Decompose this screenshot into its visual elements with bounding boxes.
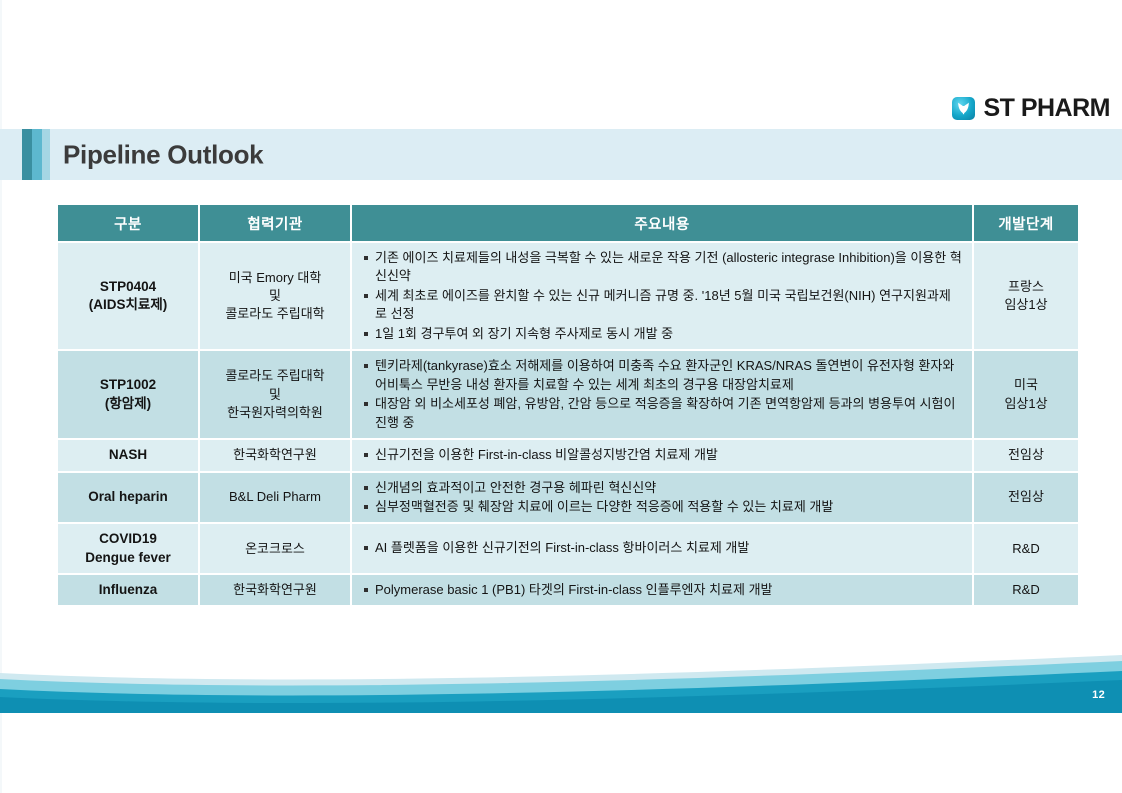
detail-list: 신개념의 효과적이고 안전한 경구용 헤파린 혁신신약 심부정맥혈전증 및 췌장… bbox=[362, 479, 962, 517]
cell-partner: 온코크로스 bbox=[200, 524, 350, 572]
cell-details: 텐키라제(tankyrase)효소 저해제를 이용하여 미충족 수요 환자군인 … bbox=[352, 351, 972, 438]
detail-list: 기존 에이즈 치료제들의 내성을 극복할 수 있는 새로운 작용 기전 (all… bbox=[362, 249, 962, 343]
stage-line-1: 미국 bbox=[974, 376, 1078, 394]
cell-category: Influenza bbox=[58, 575, 198, 605]
cell-stage: 전임상 bbox=[974, 440, 1078, 470]
cell-details: 신규기전을 이용한 First-in-class 비알콜성지방간염 치료제 개발 bbox=[352, 440, 972, 470]
cell-category: STP0404 (AIDS치료제) bbox=[58, 243, 198, 349]
cell-partner: 한국화학연구원 bbox=[200, 575, 350, 605]
cell-partner: B&L Deli Pharm bbox=[200, 473, 350, 523]
stage-line-1: 전임상 bbox=[974, 488, 1078, 506]
table-row: Influenza 한국화학연구원 Polymerase basic 1 (PB… bbox=[58, 575, 1078, 605]
stage-line-1: 전임상 bbox=[974, 446, 1078, 464]
partner-line-2: 및 bbox=[200, 386, 350, 404]
cell-stage: 미국 임상1상 bbox=[974, 351, 1078, 438]
category-line-1: COVID19 bbox=[58, 530, 198, 548]
stage-line-1: R&D bbox=[974, 540, 1078, 558]
cell-stage: 프랑스 임상1상 bbox=[974, 243, 1078, 349]
table-row: NASH 한국화학연구원 신규기전을 이용한 First-in-class 비알… bbox=[58, 440, 1078, 470]
accent-bar-mid bbox=[32, 129, 42, 180]
cell-stage: 전임상 bbox=[974, 473, 1078, 523]
slide-title-band: Pipeline Outlook bbox=[0, 129, 1122, 180]
list-item: 대장암 외 비소세포성 폐암, 유방암, 간암 등으로 적응증을 확장하여 기존… bbox=[362, 395, 962, 432]
table-row: STP0404 (AIDS치료제) 미국 Emory 대학 및 콜로라도 주립대… bbox=[58, 243, 1078, 349]
footer-wave bbox=[0, 653, 1122, 713]
category-line-1: STP0404 bbox=[58, 278, 198, 296]
cell-details: Polymerase basic 1 (PB1) 타겟의 First-in-cl… bbox=[352, 575, 972, 605]
cell-category: NASH bbox=[58, 440, 198, 470]
table-header: 구분 협력기관 주요내용 개발단계 bbox=[58, 205, 1078, 241]
brand-logo: ST PHARM bbox=[952, 96, 1110, 121]
column-header-details: 주요내용 bbox=[352, 205, 972, 241]
partner-line-1: 한국화학연구원 bbox=[200, 446, 350, 464]
partner-line-1: 온코크로스 bbox=[200, 540, 350, 558]
list-item: 텐키라제(tankyrase)효소 저해제를 이용하여 미충족 수요 환자군인 … bbox=[362, 357, 962, 394]
detail-list: 신규기전을 이용한 First-in-class 비알콜성지방간염 치료제 개발 bbox=[362, 446, 962, 464]
list-item: 심부정맥혈전증 및 췌장암 치료에 이르는 다양한 적응증에 적용할 수 있는 … bbox=[362, 498, 962, 516]
title-accent-bars bbox=[22, 129, 50, 180]
detail-list: AI 플렛폼을 이용한 신규기전의 First-in-class 항바이러스 치… bbox=[362, 539, 962, 557]
page-title: Pipeline Outlook bbox=[63, 139, 263, 170]
cell-stage: R&D bbox=[974, 524, 1078, 572]
partner-line-2: 및 bbox=[200, 287, 350, 305]
stage-line-2: 임상1상 bbox=[974, 395, 1078, 413]
category-line-2: Dengue fever bbox=[58, 549, 198, 567]
brand-name: ST PHARM bbox=[983, 96, 1110, 121]
list-item: 1일 1회 경구투여 외 장기 지속형 주사제로 동시 개발 중 bbox=[362, 325, 962, 343]
list-item: Polymerase basic 1 (PB1) 타겟의 First-in-cl… bbox=[362, 581, 962, 599]
st-pharm-mark-icon bbox=[952, 97, 975, 120]
cell-partner: 콜로라도 주립대학 및 한국원자력의학원 bbox=[200, 351, 350, 438]
pipeline-table: 구분 협력기관 주요내용 개발단계 STP0404 (AIDS치료제) 미국 E… bbox=[56, 203, 1080, 607]
partner-line-1: B&L Deli Pharm bbox=[200, 488, 350, 506]
detail-list: Polymerase basic 1 (PB1) 타겟의 First-in-cl… bbox=[362, 581, 962, 599]
detail-list: 텐키라제(tankyrase)효소 저해제를 이용하여 미충족 수요 환자군인 … bbox=[362, 357, 962, 432]
cell-details: 신개념의 효과적이고 안전한 경구용 헤파린 혁신신약 심부정맥혈전증 및 췌장… bbox=[352, 473, 972, 523]
stage-line-1: 프랑스 bbox=[974, 278, 1078, 296]
table-header-row: 구분 협력기관 주요내용 개발단계 bbox=[58, 205, 1078, 241]
table-row: STP1002 (항암제) 콜로라도 주립대학 및 한국원자력의학원 텐키라제(… bbox=[58, 351, 1078, 438]
accent-bar-dark bbox=[22, 129, 32, 180]
partner-line-1: 한국화학연구원 bbox=[200, 581, 350, 599]
stage-line-1: R&D bbox=[974, 581, 1078, 599]
slide: ST PHARM Pipeline Outlook 구분 협력기관 주요내용 개… bbox=[0, 0, 1122, 793]
table-row: COVID19 Dengue fever 온코크로스 AI 플렛폼을 이용한 신… bbox=[58, 524, 1078, 572]
partner-line-1: 콜로라도 주립대학 bbox=[200, 367, 350, 385]
cell-details: 기존 에이즈 치료제들의 내성을 극복할 수 있는 새로운 작용 기전 (all… bbox=[352, 243, 972, 349]
list-item: AI 플렛폼을 이용한 신규기전의 First-in-class 항바이러스 치… bbox=[362, 539, 962, 557]
cell-partner: 한국화학연구원 bbox=[200, 440, 350, 470]
partner-line-3: 한국원자력의학원 bbox=[200, 404, 350, 422]
cell-category: COVID19 Dengue fever bbox=[58, 524, 198, 572]
cell-stage: R&D bbox=[974, 575, 1078, 605]
accent-bar-light bbox=[42, 129, 50, 180]
cell-category: STP1002 (항암제) bbox=[58, 351, 198, 438]
category-line-1: Influenza bbox=[58, 581, 198, 599]
table-body: STP0404 (AIDS치료제) 미국 Emory 대학 및 콜로라도 주립대… bbox=[58, 243, 1078, 605]
category-line-1: NASH bbox=[58, 446, 198, 464]
cell-partner: 미국 Emory 대학 및 콜로라도 주립대학 bbox=[200, 243, 350, 349]
category-line-2: (항암제) bbox=[58, 395, 198, 413]
list-item: 세계 최초로 에이즈를 완치할 수 있는 신규 메커니즘 규명 중. '18년 … bbox=[362, 287, 962, 324]
stage-line-2: 임상1상 bbox=[974, 296, 1078, 314]
category-line-2: (AIDS치료제) bbox=[58, 296, 198, 314]
list-item: 신개념의 효과적이고 안전한 경구용 헤파린 혁신신약 bbox=[362, 479, 962, 497]
partner-line-3: 콜로라도 주립대학 bbox=[200, 305, 350, 323]
column-header-partner: 협력기관 bbox=[200, 205, 350, 241]
column-header-category: 구분 bbox=[58, 205, 198, 241]
cell-category: Oral heparin bbox=[58, 473, 198, 523]
column-header-stage: 개발단계 bbox=[974, 205, 1078, 241]
list-item: 신규기전을 이용한 First-in-class 비알콜성지방간염 치료제 개발 bbox=[362, 446, 962, 464]
page-number: 12 bbox=[1092, 689, 1105, 701]
partner-line-1: 미국 Emory 대학 bbox=[200, 269, 350, 287]
table-row: Oral heparin B&L Deli Pharm 신개념의 효과적이고 안… bbox=[58, 473, 1078, 523]
category-line-1: STP1002 bbox=[58, 376, 198, 394]
cell-details: AI 플렛폼을 이용한 신규기전의 First-in-class 항바이러스 치… bbox=[352, 524, 972, 572]
list-item: 기존 에이즈 치료제들의 내성을 극복할 수 있는 새로운 작용 기전 (all… bbox=[362, 249, 962, 286]
category-line-1: Oral heparin bbox=[58, 488, 198, 506]
